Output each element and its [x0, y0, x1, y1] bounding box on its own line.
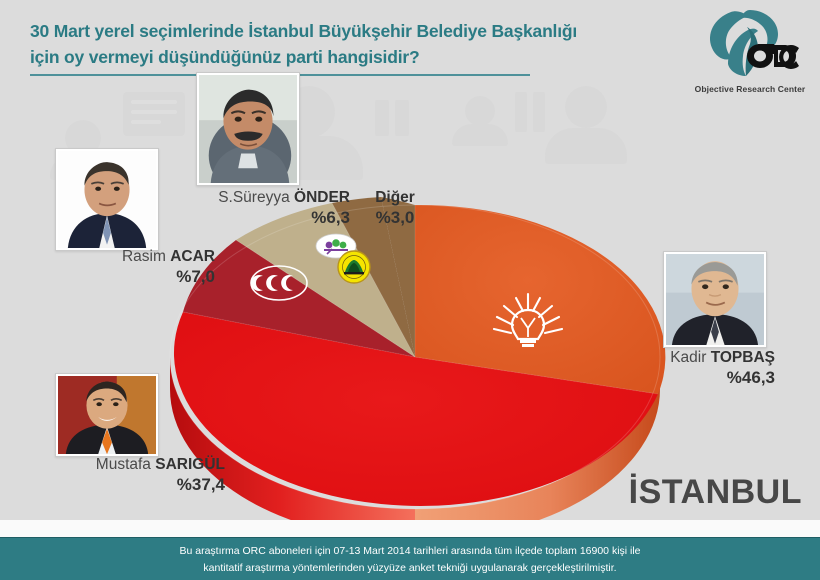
region-label: İSTANBUL [629, 473, 802, 512]
label-diger-percent: %3,0 [355, 208, 435, 228]
footer-line-2: kantitatif araştırma yöntemlerinden yüzy… [0, 560, 820, 577]
label-acar-percent: %7,0 [55, 267, 215, 287]
infographic-canvas: 30 Mart yerel seçimlerinde İstanbul Büyü… [0, 0, 820, 580]
footer-line-1: Bu araştırma ORC aboneleri için 07-13 Ma… [0, 543, 820, 560]
footer-spacer [0, 520, 820, 537]
orc-logo-subtitle: Objective Research Center [690, 84, 810, 94]
orc-logo: Objective Research Center [690, 8, 810, 106]
photo-acar [55, 148, 159, 251]
vote-share-pie-chart: CHP AK PARTİ [150, 195, 680, 525]
photo-sarigul [55, 373, 159, 457]
label-sarigul-name: Mustafa SARIGÜL [96, 456, 225, 473]
title-line-1: 30 Mart yerel seçimlerinde İstanbul Büyü… [30, 21, 577, 41]
page-title: 30 Mart yerel seçimlerinde İstanbul Büyü… [30, 18, 670, 70]
title-line-2: için oy vermeyi düşündüğünüz parti hangi… [30, 47, 419, 67]
label-topbas-percent: %46,3 [620, 368, 775, 388]
label-acar: Rasim ACAR %7,0 [55, 247, 215, 287]
photo-topbas [663, 251, 767, 348]
label-sarigul: Mustafa SARIGÜL %37,4 [40, 455, 225, 495]
label-onder: S.Süreyya ÖNDER %6,3 [170, 188, 350, 228]
header: 30 Mart yerel seçimlerinde İstanbul Büyü… [0, 0, 820, 95]
label-onder-percent: %6,3 [170, 208, 350, 228]
label-sarigul-percent: %37,4 [40, 475, 225, 495]
label-topbas: Kadir TOPBAŞ %46,3 [620, 348, 775, 388]
label-diger-name: Diğer [375, 189, 415, 206]
label-diger: Diğer %3,0 [355, 188, 435, 228]
photo-onder [196, 72, 300, 186]
label-topbas-name: Kadir TOPBAŞ [670, 349, 775, 366]
label-onder-name: S.Süreyya ÖNDER [218, 189, 350, 206]
pie-svg [150, 195, 680, 525]
orc-logo-mark [698, 8, 802, 80]
label-acar-name: Rasim ACAR [122, 248, 215, 265]
footer-note: Bu araştırma ORC aboneleri için 07-13 Ma… [0, 537, 820, 580]
bdp-emblem [338, 251, 370, 283]
